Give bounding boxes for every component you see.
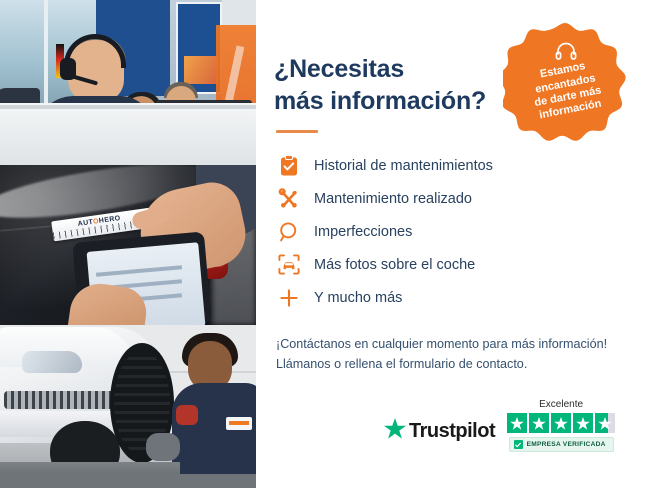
list-item: Imperfecciones <box>276 215 626 248</box>
headline-line-2: más información? <box>274 87 486 115</box>
star-rating <box>507 413 615 433</box>
car-photo-frame-icon <box>276 252 302 278</box>
trustpilot-rating[interactable]: Trustpilot Excelente <box>384 399 615 452</box>
verified-company-badge: EMPRESA VERIFICADA <box>509 437 614 452</box>
magnifier-icon <box>276 219 302 245</box>
feature-label: Imperfecciones <box>314 224 412 240</box>
contact-line-1: ¡Contáctanos en cualquier momento para m… <box>276 337 607 351</box>
car-inspection-ruler-photo: AUTOHERO <box>0 165 256 325</box>
trustpilot-logo[interactable]: Trustpilot <box>384 418 495 452</box>
trustpilot-star-icon <box>384 418 406 444</box>
badge-text: Estamos encantados de darte más informac… <box>492 9 637 154</box>
contact-line-2: Llámanos o rellena el formulario de cont… <box>276 357 527 371</box>
star-filled <box>529 413 549 433</box>
feature-label: Más fotos sobre el coche <box>314 257 475 273</box>
list-item: Y mucho más <box>276 281 626 314</box>
status-badge: Estamos encantados de darte más informac… <box>503 20 627 144</box>
photo-column: AUTOHERO <box>0 0 256 488</box>
feature-label: Mantenimiento realizado <box>314 191 472 207</box>
clipboard-check-icon <box>276 153 302 179</box>
page-title: ¿Necesitas más información? <box>274 54 504 117</box>
trustpilot-wordmark: Trustpilot <box>409 420 495 443</box>
rating-label: Excelente <box>539 399 583 410</box>
plus-icon <box>276 285 302 311</box>
feature-list: Historial de mantenimientos M <box>276 149 626 314</box>
mechanic-tire-check-photo <box>0 325 256 488</box>
trustpilot-score-block: Excelente <box>507 399 615 452</box>
star-filled <box>507 413 527 433</box>
headline-line-1: ¿Necesitas <box>274 55 404 83</box>
list-item: Más fotos sobre el coche <box>276 248 626 281</box>
star-filled <box>573 413 593 433</box>
call-center-agents-photo <box>0 0 256 165</box>
list-item: Mantenimiento realizado <box>276 182 626 215</box>
information-banner: AUTOHERO ¿Necesitas más información? <box>0 0 650 488</box>
content-panel: ¿Necesitas más información? Historial de… <box>256 0 650 488</box>
feature-label: Y mucho más <box>314 290 402 306</box>
contact-text: ¡Contáctanos en cualquier momento para m… <box>276 334 626 375</box>
wrench-screwdriver-icon <box>276 186 302 212</box>
check-icon <box>514 440 523 449</box>
title-divider <box>276 130 318 133</box>
verified-label: EMPRESA VERIFICADA <box>527 441 606 448</box>
feature-label: Historial de mantenimientos <box>314 158 493 174</box>
star-filled <box>551 413 571 433</box>
list-item: Historial de mantenimientos <box>276 149 626 182</box>
star-partial <box>595 413 615 433</box>
